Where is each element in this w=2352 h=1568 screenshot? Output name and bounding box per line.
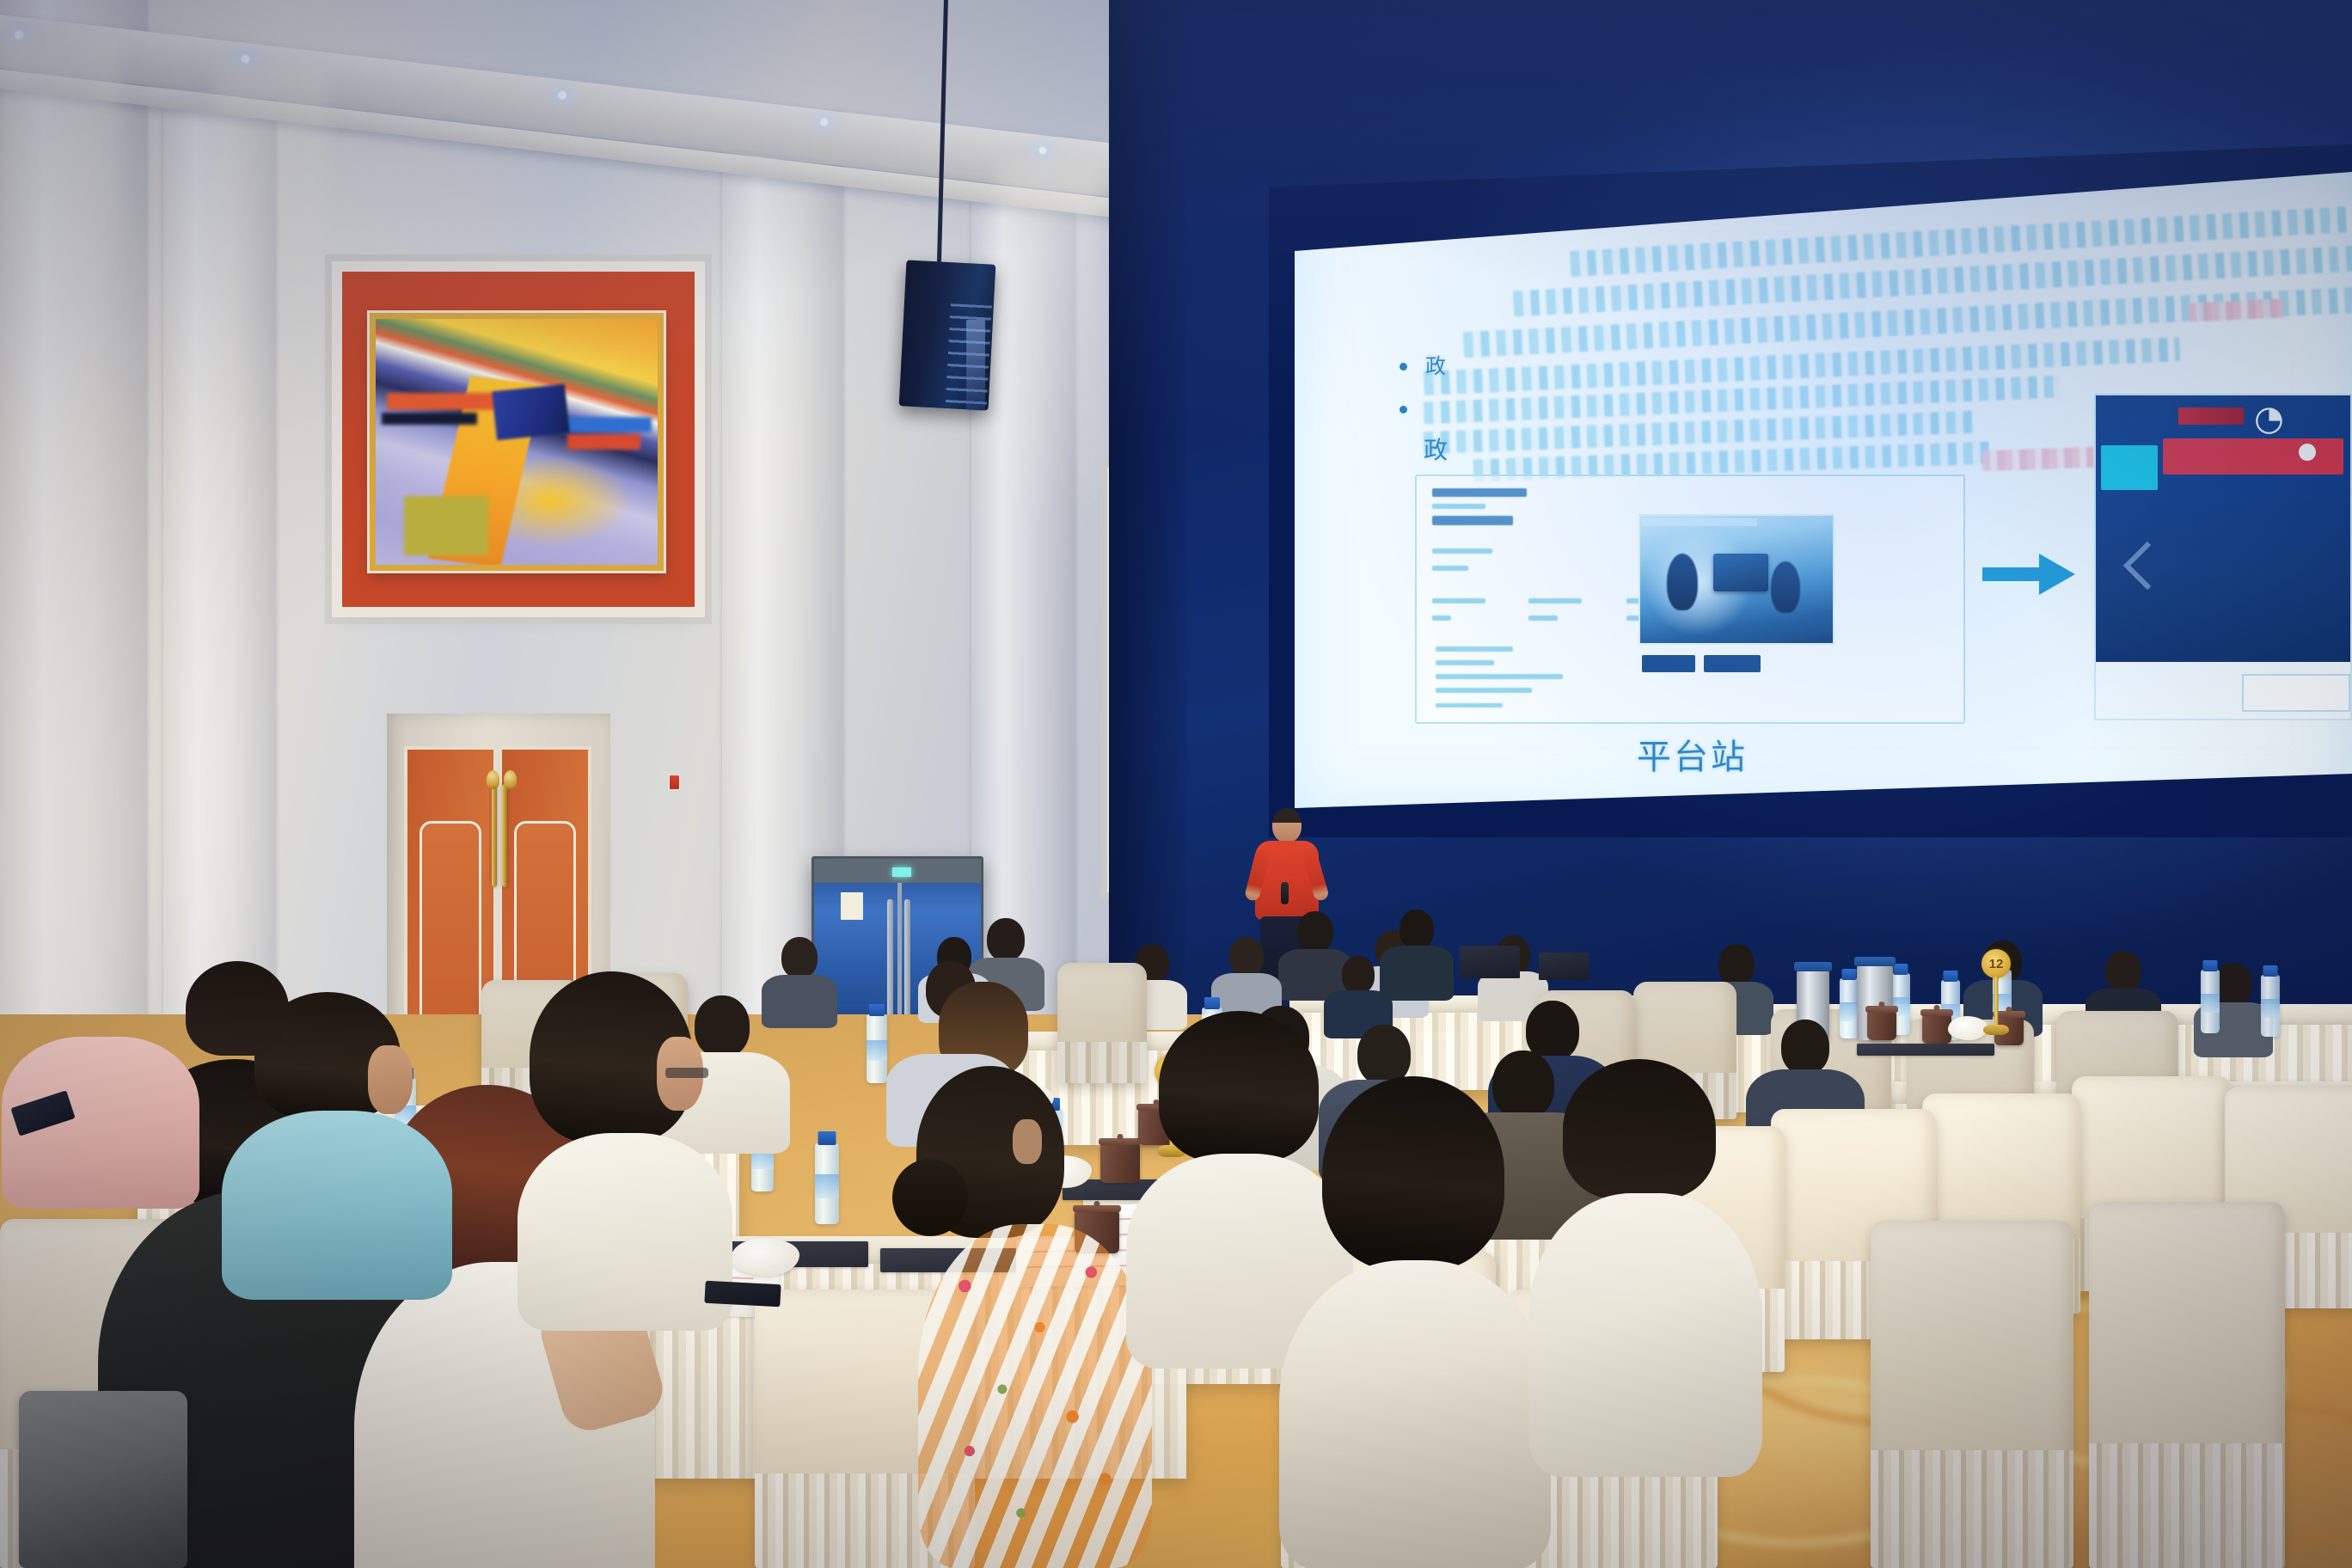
- bottle-cap: [818, 1131, 836, 1145]
- card-list-item: [1436, 703, 1503, 707]
- photo-person: [1771, 561, 1800, 613]
- mobile-phone[interactable]: [704, 1281, 781, 1308]
- fire-alarm-box: [669, 775, 680, 790]
- paint-stroke: [404, 496, 488, 555]
- cyan-shirt: [222, 1111, 452, 1300]
- table-number-stand: 12: [1979, 949, 2013, 1035]
- card-badge: [1432, 516, 1513, 525]
- table-number-stem: [1994, 977, 1999, 1026]
- water-bottle: [2201, 970, 2220, 1033]
- mockup-logo-icon: ◔: [2254, 399, 2284, 438]
- cabinet-handle[interactable]: [887, 899, 893, 1032]
- face: [1013, 1119, 1042, 1164]
- wall-downlight: [817, 118, 831, 126]
- wall-light-pool: [997, 163, 1100, 524]
- slide-redacted-text-pink: [1982, 447, 2095, 472]
- hair-bun: [892, 1159, 968, 1236]
- torso: [1279, 1260, 1551, 1568]
- laptop: [1539, 952, 1589, 980]
- teacup-knob: [1094, 1201, 1100, 1207]
- arrow-right-icon: [1982, 548, 2077, 609]
- door-handle[interactable]: [502, 784, 507, 887]
- card-line: [1432, 548, 1492, 554]
- mockup-chip: [2101, 445, 2158, 490]
- torso: [1528, 1193, 1762, 1477]
- eyeglasses: [665, 1068, 708, 1078]
- mockup-chevron-left-icon: [2123, 542, 2172, 591]
- bottle-label: [2201, 994, 2220, 1013]
- slide-label-zheng: 政: [1424, 432, 1450, 466]
- door-knob[interactable]: [487, 770, 499, 789]
- bottle-cap: [869, 1004, 885, 1016]
- presenter-head: [1272, 808, 1302, 842]
- torso: [518, 1133, 732, 1331]
- bottle-cap: [2263, 965, 2278, 977]
- photo-person: [1667, 554, 1698, 610]
- banquet-chair: [2089, 1202, 2285, 1568]
- paint-stroke: [382, 413, 478, 425]
- hair: [1563, 1059, 1716, 1200]
- face: [368, 1045, 413, 1114]
- microphone: [1281, 882, 1289, 904]
- wall-downlight: [237, 54, 254, 64]
- card-list-item: [1436, 688, 1532, 693]
- slide-redacted-text-pink: [2189, 298, 2284, 322]
- wall-light-pool: [215, 67, 327, 325]
- photo-topbar: [1642, 518, 1757, 526]
- stage-wall-edge: [1109, 0, 1186, 1092]
- clay-teacup: [1922, 1014, 1951, 1044]
- hair: [186, 961, 289, 1056]
- bottle-cap: [1842, 969, 1857, 980]
- bottle-cap: [1204, 997, 1220, 1009]
- card-list-item: [1436, 674, 1563, 679]
- floral-blouse: [918, 1224, 1152, 1568]
- bottle-label: [815, 1174, 839, 1198]
- slide-label-fragment: 政: [1425, 349, 1449, 379]
- card-title-line: [1432, 488, 1527, 497]
- table-number-base: [1983, 1025, 2009, 1035]
- water-bottle: [815, 1143, 839, 1224]
- card-stat-label: [1528, 598, 1582, 603]
- door-knob[interactable]: [504, 770, 517, 789]
- card-sub-line: [1432, 504, 1485, 509]
- card-line: [1432, 566, 1468, 571]
- slide-app-mockup: ◔: [2094, 394, 2352, 720]
- water-bottle: [1840, 978, 1859, 1038]
- paint-stroke: [567, 434, 640, 449]
- card-stat-label: [1432, 598, 1485, 603]
- hair: [1322, 1076, 1504, 1271]
- mockup-tag: [2178, 407, 2244, 425]
- mockup-footer-card: [2242, 674, 2350, 712]
- laptop: [1460, 946, 1520, 978]
- wall-downlight: [10, 30, 28, 40]
- photo-monitor: [1713, 554, 1768, 591]
- card-list-item: [1436, 646, 1513, 652]
- clay-teacup: [1867, 1011, 1896, 1040]
- cabinet-handle[interactable]: [904, 899, 910, 1032]
- speaker-bracket: [966, 320, 985, 411]
- hair: [1159, 1011, 1319, 1162]
- abstract-landscape-painting: [370, 313, 664, 571]
- bottle-cap: [1894, 964, 1908, 975]
- card-stat-value: [1432, 616, 1451, 621]
- bottle-cap: [1944, 971, 1958, 982]
- card-list-item: [1436, 660, 1494, 665]
- backpack: [19, 1391, 187, 1568]
- arrow-right-svg: [1982, 548, 2077, 600]
- slide-bullet-icon: [1400, 406, 1407, 413]
- slide-bullet-icon: [1400, 363, 1407, 371]
- teacup-knob: [1879, 1001, 1885, 1008]
- teacup-knob: [1934, 1005, 1940, 1011]
- wall-light-pool: [0, 40, 120, 323]
- paint-stroke: [387, 393, 517, 410]
- bottle-label: [867, 1040, 887, 1061]
- teacup-knob: [1118, 1134, 1124, 1140]
- projection-screen[interactable]: 政 政: [1295, 172, 2352, 808]
- thermos-cap: [1854, 957, 1896, 966]
- bottle-label: [1840, 1002, 1859, 1021]
- slide-screenshot-card: [1415, 475, 1965, 724]
- slide-photo-button[interactable]: [1642, 655, 1695, 672]
- card-stat-value: [1528, 616, 1558, 621]
- cabinet-label: [841, 892, 863, 920]
- banquet-chair: [1871, 1221, 2073, 1568]
- folded-napkin: [731, 1238, 799, 1276]
- slide-photo-button[interactable]: [1704, 655, 1761, 672]
- slide-photo-thumbnail: [1638, 514, 1834, 645]
- painting-canvas: [376, 319, 658, 565]
- clay-teacup: [1100, 1143, 1140, 1183]
- door-handle[interactable]: [492, 784, 497, 887]
- placemat: [1857, 1044, 1994, 1056]
- left-wall: [0, 0, 1126, 1032]
- bottle-label: [2261, 999, 2280, 1018]
- wall-downlight: [1036, 146, 1050, 155]
- water-bottle: [2261, 975, 2280, 1037]
- cabinet-led-display: [892, 867, 911, 877]
- conference-hall-photo: 政 政: [0, 0, 2352, 1568]
- slide-caption-platform: 平台站: [1637, 729, 1748, 779]
- stage-backdrop: 政 政: [1109, 0, 2352, 1092]
- table-number-value: 12: [1981, 949, 2011, 978]
- water-bottle: [867, 1014, 887, 1083]
- thermos-cap: [1794, 962, 1832, 971]
- wall-downlight: [554, 90, 570, 100]
- bottle-cap: [2203, 960, 2218, 971]
- banquet-chair: [1057, 963, 1147, 1083]
- mockup-banner: [2163, 438, 2343, 475]
- paint-stroke: [545, 417, 652, 432]
- mockup-dot: [2299, 444, 2316, 461]
